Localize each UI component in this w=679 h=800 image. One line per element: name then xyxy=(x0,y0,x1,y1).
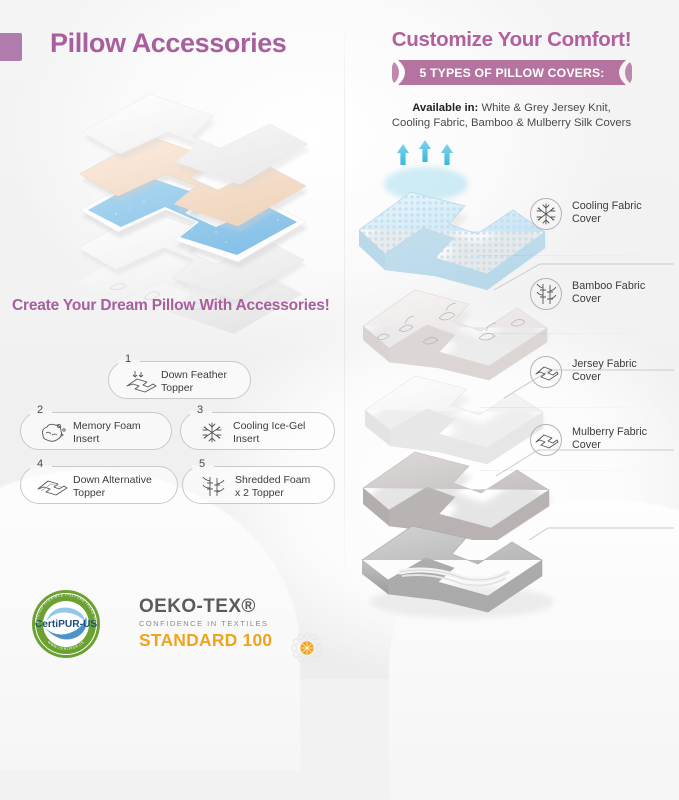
cover-legend-mulberry[interactable]: Mulberry Fabric Cover xyxy=(530,418,679,466)
certipur-us-badge: CertiPUR-US CERTIFIED FLEXIBLE POLYURETH… xyxy=(30,588,102,660)
fabric-sheet-icon xyxy=(530,356,562,388)
legend-separator-1 xyxy=(479,255,679,256)
memory-foam-icon xyxy=(35,421,69,444)
availability-rest: White & Grey Jersey Knit, xyxy=(478,102,610,114)
accessory-item-3[interactable]: 3 Cooling Ice-Gel Insert xyxy=(180,412,335,450)
right-panel: Customize Your Comfort! 5 TYPES OF PILLO… xyxy=(344,0,679,679)
certipur-center-text: CertiPUR-US xyxy=(35,619,97,630)
legend-separator-3 xyxy=(479,407,679,408)
accessory-item-5[interactable]: 5 Shredded Foam x 2 Topper xyxy=(182,466,335,504)
accessory-item-4[interactable]: 4 Down Alternative Topper xyxy=(20,466,178,504)
accessory-number: 2 xyxy=(34,404,46,416)
infographic-page: Pillow Accessories xyxy=(0,0,679,679)
availability-text: Available in: White & Grey Jersey Knit, … xyxy=(344,101,679,131)
snowflake-icon xyxy=(530,198,562,230)
shredded-foam-icon xyxy=(197,475,231,498)
cover-label: Cooling Fabric Cover xyxy=(572,200,642,226)
accessory-label: Shredded Foam x 2 Topper xyxy=(235,474,310,499)
accessory-number: 1 xyxy=(122,353,134,365)
cover-label: Bamboo Fabric Cover xyxy=(572,280,645,306)
cover-legend-jersey[interactable]: Jersey Fabric Cover xyxy=(530,350,679,398)
cover-legend-bamboo[interactable]: Bamboo Fabric Cover xyxy=(530,272,679,320)
airflow-arrows xyxy=(384,140,468,201)
accessory-label: Cooling Ice-Gel Insert xyxy=(233,420,305,445)
page-title-right: Customize Your Comfort! xyxy=(344,28,679,52)
tagline-text: Create Your Dream Pillow With Accessorie… xyxy=(12,297,330,316)
ribbon-label: 5 TYPES OF PILLOW COVERS: xyxy=(392,60,632,85)
cover-legend-cooling[interactable]: Cooling Fabric Cover xyxy=(530,192,679,240)
availability-prefix: Available in: xyxy=(412,102,478,114)
cover-types-ribbon: 5 TYPES OF PILLOW COVERS: xyxy=(392,60,632,85)
page-title-left: Pillow Accessories xyxy=(50,28,286,59)
exploded-cover-stack xyxy=(349,140,549,540)
accessory-item-2[interactable]: 2 Memory Foam Insert xyxy=(20,412,172,450)
topper-icon xyxy=(123,370,157,393)
oeko-tex-subtitle: CONFIDENCE IN TEXTILES xyxy=(139,619,324,628)
accessory-number: 5 xyxy=(196,458,208,470)
oeko-tex-flower-icon xyxy=(291,632,323,664)
accessory-number: 4 xyxy=(34,458,46,470)
bamboo-cover-shape xyxy=(363,290,550,380)
fabric-sheet-icon xyxy=(530,424,562,456)
topper-icon xyxy=(35,475,69,498)
cover-label: Mulberry Fabric Cover xyxy=(572,426,647,452)
cooling-cover-shape xyxy=(359,192,548,290)
accent-square-icon xyxy=(0,33,22,61)
snowflake-icon xyxy=(195,421,229,444)
accessory-item-1[interactable]: 1 Down Feather Topper xyxy=(108,361,251,399)
grey-covered-pillow xyxy=(354,512,569,622)
availability-line2: Cooling Fabric, Bamboo & Mulberry Silk C… xyxy=(392,117,631,129)
jersey-cover-shape xyxy=(365,376,546,464)
oeko-tex-title: OEKO-TEX® xyxy=(139,596,324,618)
legend-separator-2 xyxy=(479,333,679,334)
cover-label: Jersey Fabric Cover xyxy=(572,358,637,384)
certification-row: CertiPUR-US CERTIFIED FLEXIBLE POLYURETH… xyxy=(24,586,324,668)
legend-separator-4 xyxy=(479,470,679,471)
oeko-tex-logo: OEKO-TEX® CONFIDENCE IN TEXTILES STANDAR… xyxy=(139,596,324,658)
accessory-label: Down Feather Topper xyxy=(161,369,227,394)
left-panel: Pillow Accessories xyxy=(0,0,344,679)
bamboo-icon xyxy=(530,278,562,310)
accessory-label: Down Alternative Topper xyxy=(73,474,152,499)
accessory-number: 3 xyxy=(194,404,206,416)
accessory-label: Memory Foam Insert xyxy=(73,420,141,445)
